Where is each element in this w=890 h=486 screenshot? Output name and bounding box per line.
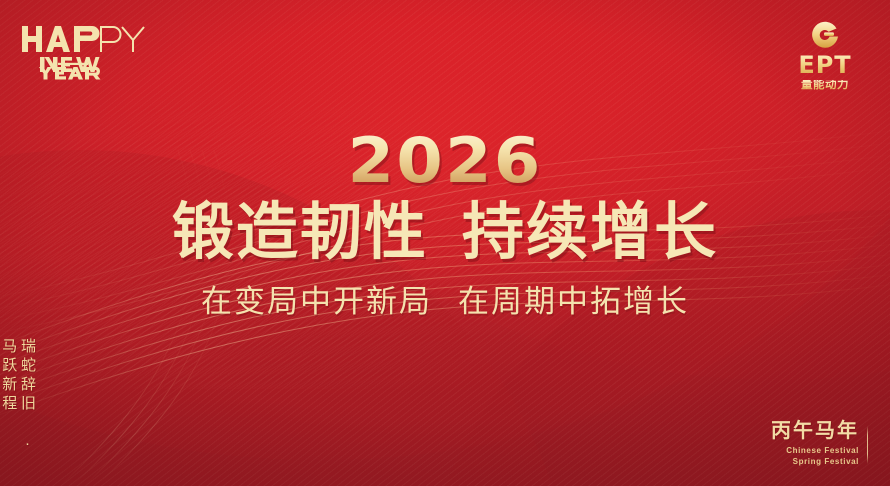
- zodiac-stamp: 丙午马年 Chinese Festival Spring Festival: [771, 420, 868, 468]
- headline-right: 持续增长: [462, 198, 718, 267]
- festival-en-line2: Spring Festival: [771, 456, 859, 468]
- subtitle: 在变局中开新局在周期中拓增长: [0, 283, 890, 320]
- festival-en-label: Chinese Festival Spring Festival: [771, 445, 859, 468]
- year-2026: 2026: [0, 130, 890, 192]
- headline: 锻造韧性持续增长: [0, 198, 890, 267]
- happy-new-year-logo: [22, 24, 152, 80]
- headline-left: 锻造韧性: [172, 198, 428, 267]
- happy-new-year-logo-art: [22, 24, 152, 80]
- ept-wordmark: EPT: [782, 53, 868, 77]
- new-year-banner: EPT 量能动力 2026 锻造韧性持续增长 在变局中开新局在周期中拓增长 瑞蛇…: [0, 0, 890, 486]
- subtitle-left: 在变局中开新局: [201, 284, 432, 319]
- festival-en-line1: Chinese Festival: [771, 445, 859, 457]
- ept-chinese-name: 量能动力: [782, 80, 868, 92]
- ept-brand-logo: EPT 量能动力: [782, 18, 868, 92]
- zodiac-year-label: 丙午马年: [771, 420, 859, 442]
- subtitle-right: 在周期中拓增长: [458, 284, 689, 319]
- ept-emblem-icon: [782, 18, 868, 52]
- side-vertical-text: 瑞蛇辞旧 · 马跃新程: [14, 338, 36, 486]
